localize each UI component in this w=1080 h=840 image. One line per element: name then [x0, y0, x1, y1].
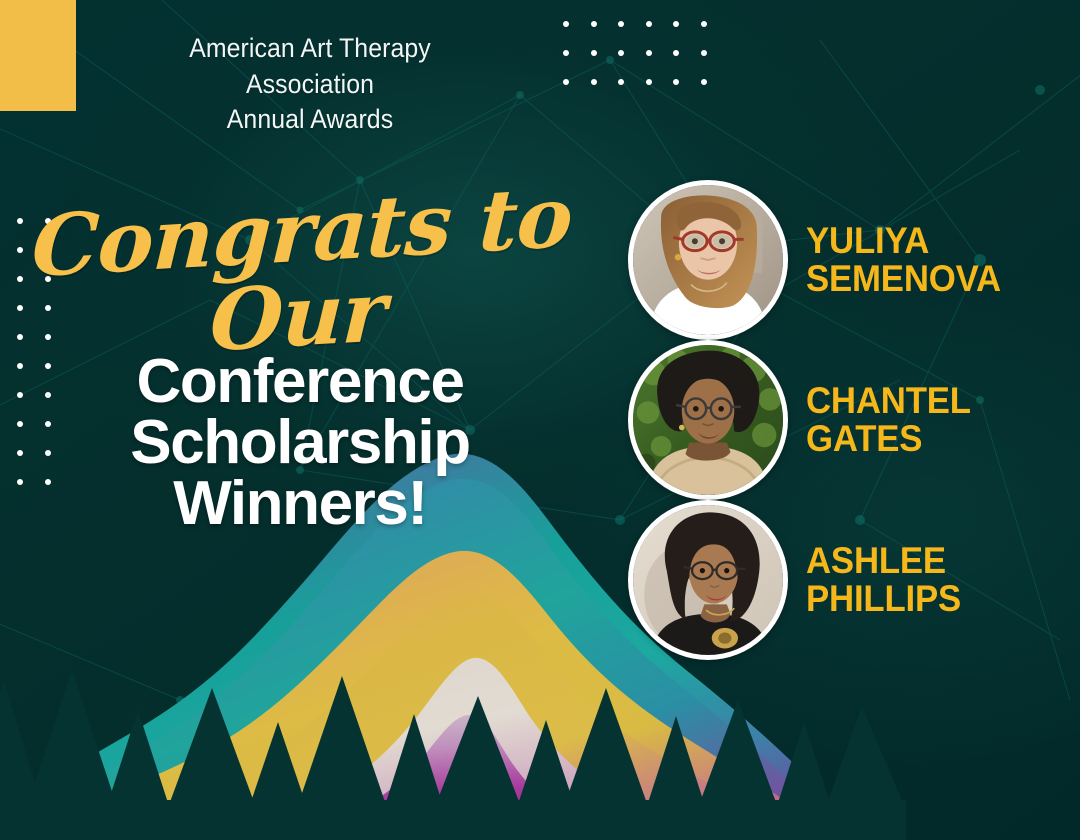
congrats-script-text: Congrats to Our: [0, 173, 604, 375]
avatar: [628, 340, 788, 500]
list-item: ASHLEE PHILLIPS: [628, 500, 1048, 660]
dot: [646, 79, 652, 85]
winner-name: CHANTEL GATES: [806, 382, 971, 457]
dot: [591, 21, 597, 27]
headline-line-3: Winners!: [0, 474, 600, 535]
avatar: [628, 500, 788, 660]
headline-line-2: Scholarship: [0, 413, 600, 474]
award-poster: American Art Therapy Association Annual …: [0, 0, 1080, 840]
dot: [591, 79, 597, 85]
page-title: American Art Therapy Association Annual …: [126, 31, 494, 138]
winner-name: ASHLEE PHILLIPS: [806, 542, 961, 617]
dot: [673, 21, 679, 27]
portrait-ashlee-phillips: [633, 505, 783, 655]
dot: [591, 50, 597, 56]
yellow-corner-block: [0, 0, 76, 111]
avatar: [628, 180, 788, 340]
dot: [673, 50, 679, 56]
portrait-yuliya-semenova: [633, 185, 783, 335]
headline-text: Conference Scholarship Winners!: [0, 352, 600, 534]
header-line-1: American Art Therapy Association: [126, 31, 494, 102]
dot: [563, 21, 569, 27]
dot: [701, 79, 707, 85]
winner-name: YULIYA SEMENOVA: [806, 222, 1001, 297]
dot: [563, 50, 569, 56]
portrait-chantel-gates: [633, 345, 783, 495]
dot-grid-top-right: [563, 0, 729, 108]
header-line-2: Annual Awards: [126, 102, 494, 138]
dot: [701, 50, 707, 56]
dot: [646, 50, 652, 56]
dot: [701, 21, 707, 27]
dot: [618, 79, 624, 85]
dot: [563, 79, 569, 85]
dot: [618, 21, 624, 27]
dot: [618, 50, 624, 56]
headline-block: Congrats to Our Conference Scholarship W…: [0, 190, 600, 534]
dot: [646, 21, 652, 27]
list-item: CHANTEL GATES: [628, 340, 1048, 500]
dot: [673, 79, 679, 85]
winners-list: YULIYA SEMENOVA: [628, 180, 1048, 660]
list-item: YULIYA SEMENOVA: [628, 180, 1048, 340]
